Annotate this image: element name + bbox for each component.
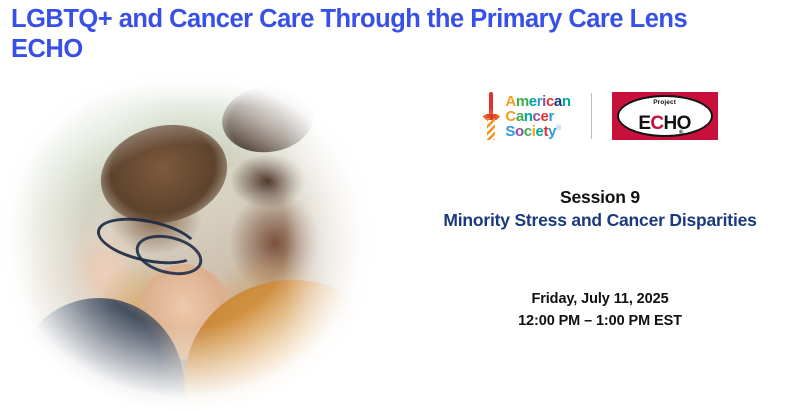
- event-date: Friday, July 11, 2025: [400, 288, 800, 310]
- photo-image: [0, 68, 395, 411]
- photo-detail-hair-bun: [218, 80, 318, 158]
- event-promo-card: LGBTQ+ and Cancer Care Through the Prima…: [0, 0, 800, 411]
- session-number: Session 9: [400, 186, 800, 208]
- logo-row: American Cancer Society® Project ECHO®: [400, 86, 800, 146]
- event-time: 12:00 PM – 1:00 PM EST: [400, 310, 800, 332]
- schedule-block: Friday, July 11, 2025 12:00 PM – 1:00 PM…: [400, 288, 800, 332]
- acs-wordmark: American Cancer Society®: [505, 94, 570, 139]
- acs-wordmark-line3: Society®: [505, 124, 570, 139]
- echo-wordmark: ECHO®: [638, 114, 691, 133]
- page-title: LGBTQ+ and Cancer Care Through the Prima…: [11, 4, 751, 64]
- event-photo: [0, 68, 395, 411]
- acs-registered-mark: ®: [556, 125, 561, 132]
- logo-divider: [591, 93, 592, 139]
- acs-wordmark-line1: American: [505, 94, 570, 109]
- acs-sword-coil: [487, 118, 495, 140]
- american-cancer-society-logo: American Cancer Society®: [482, 92, 570, 140]
- echo-project-text: Project: [619, 99, 711, 106]
- session-topic: Minority Stress and Cancer Disparities: [400, 209, 800, 231]
- acs-sword-icon: [482, 92, 500, 140]
- session-block: Session 9 Minority Stress and Cancer Dis…: [400, 186, 800, 231]
- info-column: American Cancer Society® Project ECHO® S…: [400, 68, 800, 411]
- echo-registered-mark: ®: [679, 124, 683, 143]
- project-echo-logo: Project ECHO®: [612, 92, 718, 140]
- photo-detail-hair-short: [90, 112, 237, 236]
- acs-wordmark-line2: Cancer: [505, 109, 570, 124]
- echo-oval: Project ECHO®: [617, 95, 713, 137]
